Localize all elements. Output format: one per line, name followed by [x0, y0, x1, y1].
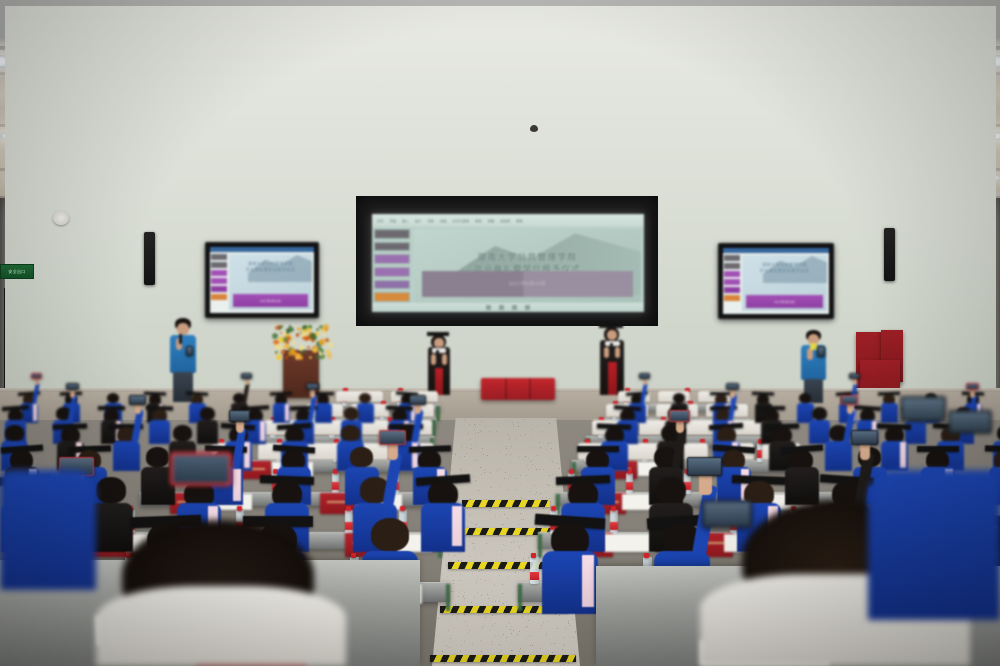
flower-petal	[283, 337, 288, 342]
floor-speck	[460, 469, 461, 470]
slide-sorter-icon[interactable]	[499, 305, 504, 310]
floor-speck	[510, 629, 511, 630]
graduation-gown	[825, 441, 852, 471]
bottle-label	[332, 482, 339, 490]
phone-screen	[850, 374, 859, 378]
bottle-cap	[237, 506, 242, 511]
slide-thumbnail[interactable]	[374, 292, 410, 302]
floor-speck	[440, 602, 441, 603]
floor-speck	[487, 455, 488, 456]
graduation-gown	[315, 403, 333, 423]
floor-speck	[469, 537, 470, 538]
floor-speck	[520, 475, 521, 476]
floor-speck	[481, 553, 482, 554]
floor-speck	[568, 623, 569, 624]
raised-phone[interactable]	[948, 410, 992, 434]
face	[607, 330, 617, 340]
desk-green-edge	[436, 406, 440, 421]
floor-speck	[572, 619, 573, 620]
microphone	[436, 350, 439, 359]
floor-speck	[523, 651, 524, 652]
floor-speck	[489, 510, 490, 511]
floor-speck	[552, 652, 553, 653]
floor-speck	[442, 651, 443, 652]
floor-speck	[478, 615, 479, 616]
ppt-menu-item[interactable]: 开始	[390, 219, 397, 223]
student-hair	[341, 425, 359, 441]
floor-speck	[449, 647, 450, 648]
floor-speck	[563, 664, 564, 665]
tv-slide-thumbnail	[724, 295, 740, 301]
phone-screen	[173, 455, 229, 483]
phone-screen	[842, 396, 857, 403]
floor-speck	[532, 437, 533, 438]
floor-speck	[515, 572, 516, 573]
floor-speck	[480, 640, 481, 641]
floor-speck	[489, 580, 490, 581]
floor-speck	[469, 424, 470, 425]
floor-speck	[509, 437, 510, 438]
phone-screen	[307, 384, 319, 389]
floor-speck	[482, 448, 483, 449]
floor-speck	[501, 524, 502, 525]
tv-slide-thumbnail	[724, 287, 740, 293]
flower-petal	[307, 346, 310, 349]
floor-speck	[479, 571, 480, 572]
bottle-cap	[531, 553, 536, 558]
floor-speck	[503, 524, 504, 525]
flower-petal	[309, 356, 312, 359]
floor-speck	[529, 447, 530, 448]
floor-speck	[464, 592, 465, 593]
raised-phone[interactable]	[900, 396, 946, 422]
floor-speck	[543, 469, 544, 470]
floor-speck	[525, 539, 526, 540]
floor-speck	[474, 543, 475, 544]
floor-speck	[464, 419, 465, 420]
normal-view-icon[interactable]	[486, 305, 491, 310]
floor-speck	[573, 637, 574, 638]
tv-ppt-ribbon	[723, 248, 829, 253]
phone-screen	[230, 411, 249, 421]
bottle-cap	[644, 553, 649, 558]
floor-speck	[503, 634, 504, 635]
right-tv-monitor: 湖南大学公共管理学院 毕业典礼暨学位授予仪式 2017年6月18日	[718, 243, 834, 319]
floor-speck	[475, 558, 476, 559]
student-phone[interactable]	[129, 395, 146, 404]
floor-speck	[499, 601, 500, 602]
floor-speck	[532, 464, 533, 465]
floor-speck	[506, 626, 507, 627]
floor-speck	[541, 625, 542, 626]
ppt-menu-item[interactable]: 加载项	[500, 219, 510, 223]
academic-stole	[260, 421, 265, 441]
flower-petal	[291, 337, 294, 340]
floor-speck	[543, 508, 544, 509]
floor-speck	[566, 627, 567, 628]
floor-speck	[509, 439, 510, 440]
floor-speck	[502, 550, 503, 551]
slide-date-banner: 2017年6月18日	[422, 271, 633, 297]
floor-speck	[559, 615, 560, 616]
flower-petal	[327, 332, 329, 334]
floor-speck	[559, 468, 560, 469]
floor-speck	[480, 579, 481, 580]
floor-speck	[518, 422, 519, 423]
student-phone[interactable]	[241, 373, 252, 379]
reading-view-icon[interactable]	[512, 305, 517, 310]
floor-speck	[495, 623, 496, 624]
floor-speck	[501, 554, 502, 555]
ppt-menu-item[interactable]: 视图	[488, 219, 495, 223]
floor-speck	[518, 524, 519, 525]
floor-speck	[510, 442, 511, 443]
floor-speck	[471, 522, 472, 523]
student-hair	[656, 477, 686, 503]
student-hair	[173, 425, 191, 441]
floor-speck	[475, 432, 476, 433]
floor-speck	[475, 437, 476, 438]
floor-speck	[458, 560, 459, 561]
ppt-menu-item[interactable]: 帮助	[516, 219, 523, 223]
graduation-gown	[785, 467, 819, 505]
ppt-menu-item[interactable]: 幻灯片放映	[453, 219, 470, 223]
graduation-gown	[197, 420, 219, 444]
right-doorway[interactable]	[0, 0, 57, 162]
floor-speck	[510, 454, 511, 455]
floor-speck	[525, 434, 526, 435]
floor-speck	[506, 637, 507, 638]
floor-speck	[505, 472, 506, 473]
floor-speck	[485, 580, 486, 581]
tv-slide-thumbnail	[211, 286, 227, 292]
slide-title-line1: 湖南大学公共管理学院	[414, 251, 641, 263]
floor-speck	[511, 633, 512, 634]
floor-speck	[570, 625, 571, 626]
water-bottle	[626, 473, 633, 494]
floor-speck	[519, 651, 520, 652]
security-camera-icon	[530, 125, 538, 132]
floor-speck	[511, 446, 512, 447]
flower-petal	[281, 350, 285, 354]
host-right	[596, 324, 628, 396]
floor-speck	[543, 622, 544, 623]
student-phone[interactable]	[851, 430, 878, 445]
floor-speck	[509, 508, 510, 509]
phone-screen	[640, 374, 649, 378]
floor-speck	[474, 548, 475, 549]
floor-speck	[546, 491, 547, 492]
student-hair	[799, 393, 811, 403]
camera[interactable]	[817, 346, 825, 357]
floor-speck	[550, 501, 551, 502]
floor-speck	[530, 645, 531, 646]
floor-speck	[528, 620, 529, 621]
floor-speck	[533, 616, 534, 617]
floor-speck	[474, 429, 475, 430]
floor-speck	[494, 614, 495, 615]
floor-speck	[466, 447, 467, 448]
floor-speck	[535, 494, 536, 495]
floor-speck	[554, 643, 555, 644]
tv-date-text: 2017年6月18日	[260, 299, 281, 303]
floor-speck	[514, 558, 515, 559]
slide-thumbnail[interactable]	[374, 267, 410, 277]
floor-speck	[516, 438, 517, 439]
floor-speck	[504, 478, 505, 479]
floor-speck	[513, 630, 514, 631]
desk-green-edge	[432, 420, 436, 436]
staff-left	[166, 318, 200, 402]
floor-speck	[546, 497, 547, 498]
floor-speck	[560, 665, 561, 666]
floor-speck	[502, 664, 503, 665]
floor-speck	[519, 631, 520, 632]
ppt-menu-item[interactable]: 文件	[377, 219, 384, 223]
student-hair	[5, 425, 23, 441]
floor-speck	[540, 648, 541, 649]
floor-speck	[520, 648, 521, 649]
floor-speck	[551, 448, 552, 449]
camera-screen	[818, 347, 824, 356]
floor-speck	[499, 652, 500, 653]
floor-speck	[525, 627, 526, 628]
floor-speck	[526, 475, 527, 476]
floor-speck	[484, 472, 485, 473]
floor-speck	[492, 615, 493, 616]
student-phone[interactable]	[669, 410, 690, 422]
floor-speck	[478, 577, 479, 578]
student-phone[interactable]	[31, 373, 42, 379]
floor-speck	[470, 483, 471, 484]
floor-speck	[492, 601, 493, 602]
floor-speck	[499, 468, 500, 469]
floor-speck	[501, 650, 502, 651]
floor-speck	[535, 466, 536, 467]
host-left	[424, 332, 454, 396]
slide-thumbnail[interactable]	[374, 242, 410, 252]
student-phone[interactable]	[841, 395, 858, 404]
floor-speck	[469, 630, 470, 631]
floor-speck	[448, 630, 449, 631]
floor-speck	[454, 653, 455, 654]
floor-speck	[500, 451, 501, 452]
white-collar	[432, 348, 446, 353]
slide-thumbnail[interactable]	[374, 229, 410, 239]
floor-speck	[506, 640, 507, 641]
floor-speck	[506, 601, 507, 602]
floor-speck	[490, 630, 491, 631]
floor-speck	[518, 545, 519, 546]
floor-speck	[467, 508, 468, 509]
floor-speck	[476, 490, 477, 491]
ppt-menu-item[interactable]: 切换	[427, 219, 434, 223]
slide-thumbnail[interactable]	[374, 254, 410, 264]
student-phone[interactable]	[306, 383, 320, 390]
student-phone[interactable]	[379, 430, 406, 445]
student-hair	[359, 393, 371, 403]
academic-stole	[582, 555, 594, 608]
flower-petal	[296, 333, 300, 337]
floor-speck	[516, 478, 517, 479]
tv-slide-thumbnail	[724, 279, 740, 285]
floor-speck	[448, 554, 449, 555]
ppt-menu-item[interactable]: 设计	[415, 219, 422, 223]
floor-speck	[483, 454, 484, 455]
floor-speck	[522, 616, 523, 617]
floor-speck	[511, 626, 512, 627]
floor-speck	[504, 514, 505, 515]
floor-speck	[540, 447, 541, 448]
floor-speck	[442, 574, 443, 575]
left-tv-monitor: 湖南大学公共管理学院 毕业典礼暨学位授予仪式 2017年6月18日	[205, 242, 319, 318]
raised-phone-red-case[interactable]	[170, 452, 232, 486]
hazard-stripe-tape	[462, 500, 550, 507]
flower-petal	[320, 349, 324, 353]
floor-speck	[499, 486, 500, 487]
floor-speck	[447, 576, 448, 577]
student-phone[interactable]	[726, 383, 740, 390]
phone[interactable]	[186, 346, 193, 356]
tv-thumbnail-panel	[724, 255, 740, 310]
floor-speck	[505, 523, 506, 524]
arm	[431, 354, 436, 365]
ppt-menu-item[interactable]: 插入	[402, 219, 409, 223]
floor-speck	[460, 574, 461, 575]
student-phone[interactable]	[966, 383, 980, 390]
floor-speck	[506, 446, 507, 447]
floor-speck	[508, 489, 509, 490]
floor-speck	[499, 575, 500, 576]
floor-speck	[497, 470, 498, 471]
flower-petal	[326, 350, 330, 354]
floor-speck	[499, 644, 500, 645]
bottle-cap	[569, 469, 574, 474]
right-wall-speaker	[884, 228, 895, 281]
floor-speck	[474, 597, 475, 598]
floor-speck	[548, 664, 549, 665]
flower-petal	[297, 327, 301, 331]
floor-speck	[528, 458, 529, 459]
tv-slide-thumbnail	[724, 271, 740, 277]
phone-screen	[727, 384, 739, 389]
student-phone[interactable]	[849, 373, 860, 379]
floor-speck	[481, 570, 482, 571]
floor-speck	[531, 460, 532, 461]
floor-speck	[525, 456, 526, 457]
floor-speck	[546, 635, 547, 636]
floor-speck	[473, 632, 474, 633]
audience-student	[196, 406, 219, 443]
floor-speck	[512, 650, 513, 651]
flower-petal	[301, 332, 306, 337]
floor-speck	[550, 459, 551, 460]
slideshow-icon[interactable]	[525, 305, 530, 310]
water-bottle	[332, 473, 339, 494]
floor-speck	[520, 483, 521, 484]
floor-speck	[512, 422, 513, 423]
floor-speck	[469, 515, 470, 516]
floor-speck	[465, 650, 466, 651]
floor-speck	[438, 618, 439, 619]
desk-green-edge	[446, 584, 450, 611]
student-phone[interactable]	[66, 383, 80, 390]
floor-speck	[523, 519, 524, 520]
floor-speck	[575, 632, 576, 633]
ppt-menu-item[interactable]: 动画	[440, 219, 447, 223]
floor-speck	[469, 448, 470, 449]
floor-speck	[549, 475, 550, 476]
hazard-stripe-tape	[430, 655, 576, 662]
floor-speck	[490, 508, 491, 509]
floor-speck	[467, 625, 468, 626]
tv-title-line2: 毕业典礼暨学位授予仪式	[742, 268, 827, 274]
floor-speck	[475, 460, 476, 461]
ceiling-round-speaker	[53, 211, 69, 225]
floor-speck	[479, 424, 480, 425]
tv-slide-title: 湖南大学公共管理学院 毕业典礼暨学位授予仪式	[229, 261, 312, 273]
floor-speck	[446, 614, 447, 615]
floor-speck	[500, 516, 501, 517]
floor-speck	[486, 543, 487, 544]
floor-speck	[565, 629, 566, 630]
student-hair	[146, 447, 169, 467]
microphone	[610, 343, 613, 352]
bottle-label	[530, 572, 539, 580]
floor-speck	[475, 524, 476, 525]
floor-speck	[464, 614, 465, 615]
microphone	[179, 334, 182, 344]
raised-phone[interactable]	[702, 500, 752, 528]
student-phone[interactable]	[687, 457, 722, 476]
floor-speck	[508, 621, 509, 622]
floor-speck	[467, 526, 468, 527]
floor-speck	[557, 463, 558, 464]
floor-speck	[458, 596, 459, 597]
floor-speck	[531, 467, 532, 468]
floor-speck	[491, 590, 492, 591]
student-phone[interactable]	[409, 395, 426, 404]
floor-speck	[523, 559, 524, 560]
floor-speck	[466, 453, 467, 454]
floor-speck	[501, 423, 502, 424]
floor-speck	[516, 490, 517, 491]
academic-stole	[452, 506, 461, 547]
phone-screen	[32, 374, 41, 378]
floor-speck	[524, 419, 525, 420]
student-phone[interactable]	[229, 410, 250, 422]
floor-speck	[555, 420, 556, 421]
floor-speck	[473, 476, 474, 477]
powerpoint-ribbon: 文件开始插入设计切换动画幻灯片放映审阅视图加载项帮助	[372, 214, 644, 227]
flower-petal	[306, 327, 311, 332]
tv-ppt-ribbon	[210, 247, 314, 252]
tv-slide-thumbnail	[724, 255, 740, 261]
floor-speck	[563, 644, 564, 645]
lecture-hall-photo: 安全出口 文件开始插入设计切换动画幻灯片放映审阅视图加载项帮助 湖南大学公共管理…	[0, 0, 1000, 666]
floor-speck	[557, 628, 558, 629]
bottle-cap	[551, 506, 556, 511]
floor-speck	[521, 519, 522, 520]
floor-speck	[495, 516, 496, 517]
floor-speck	[526, 536, 527, 537]
slide-thumbnail-selected[interactable]	[374, 280, 410, 290]
phone-screen	[670, 411, 689, 421]
student-phone[interactable]	[639, 373, 650, 379]
ppt-menu-item[interactable]: 审阅	[475, 219, 482, 223]
floor-speck	[483, 625, 484, 626]
foreground-blue-gown	[868, 470, 1000, 620]
